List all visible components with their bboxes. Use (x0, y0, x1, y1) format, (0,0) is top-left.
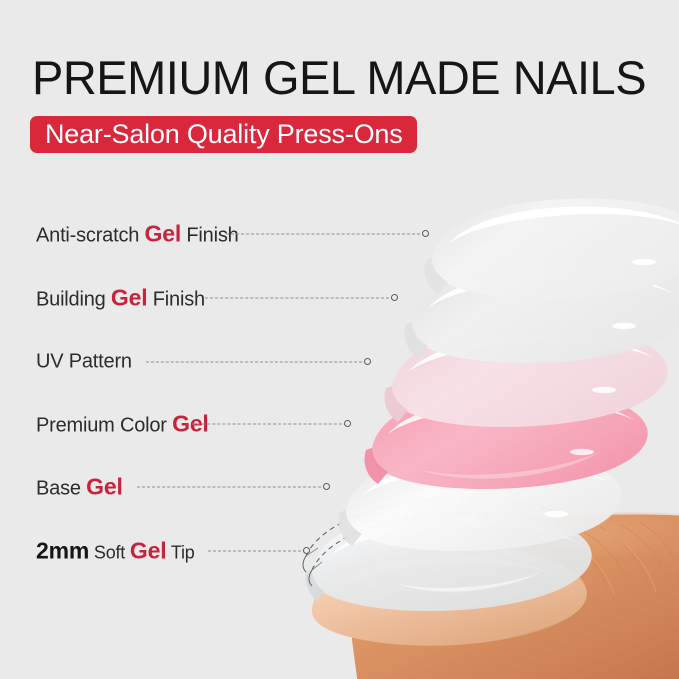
callout-endpoint-dot (323, 483, 330, 490)
callout-text-part: Building (36, 289, 111, 311)
callout-label-uv-pattern: UV Pattern (36, 351, 132, 374)
callout-text-part: UV Pattern (36, 351, 132, 373)
callout-row-building-gel-finish: Building Gel Finish (0, 283, 679, 313)
callout-endpoint-dot (422, 230, 429, 237)
callout-leader-line (137, 487, 326, 488)
subtitle-badge: Near-Salon Quality Press-Ons (30, 116, 417, 153)
callout-text-highlight: Gel (111, 285, 147, 311)
callout-text-highlight: Gel (145, 221, 181, 247)
callout-text-part: Tip (166, 543, 194, 563)
page-title: PREMIUM GEL MADE NAILS (32, 52, 646, 104)
callout-endpoint-dot (344, 420, 351, 427)
callout-label-premium-color-gel: Premium Color Gel (36, 411, 209, 438)
callout-text-part: Base (36, 478, 86, 500)
callout-text-part: Premium Color (36, 415, 172, 437)
callout-leader-line (205, 298, 394, 299)
callout-leader-line (146, 362, 367, 363)
poster-root: PREMIUM GEL MADE NAILS Near-Salon Qualit… (0, 0, 679, 679)
callout-endpoint-dot (303, 547, 310, 554)
callout-text-part: Anti-scratch (36, 225, 145, 247)
callout-leader-line (208, 551, 306, 552)
callout-row-anti-scratch-gel-finish: Anti-scratch Gel Finish (0, 219, 679, 249)
callout-text-part: Finish (181, 225, 239, 247)
callout-row-premium-color-gel: Premium Color Gel (0, 409, 679, 439)
callout-label-base-gel: Base Gel (36, 474, 123, 501)
callout-text-part: Finish (147, 289, 205, 311)
callout-label-building-gel-finish: Building Gel Finish (36, 285, 205, 312)
callout-leader-line (226, 234, 425, 235)
callout-label-anti-scratch-gel-finish: Anti-scratch Gel Finish (36, 221, 239, 248)
callout-text-highlight: Gel (86, 474, 122, 500)
callout-text-strong: 2mm (36, 538, 89, 564)
callout-label-soft-gel-tip: 2mm Soft Gel Tip (36, 538, 195, 565)
callout-endpoint-dot (391, 294, 398, 301)
callout-leader-line (192, 424, 347, 425)
callout-text-part: Soft (89, 543, 130, 563)
callout-row-soft-gel-tip: 2mm Soft Gel Tip (0, 536, 679, 566)
callout-row-uv-pattern: UV Pattern (0, 347, 679, 377)
callout-endpoint-dot (364, 358, 371, 365)
callout-row-base-gel: Base Gel (0, 472, 679, 502)
callout-text-highlight: Gel (130, 538, 166, 564)
